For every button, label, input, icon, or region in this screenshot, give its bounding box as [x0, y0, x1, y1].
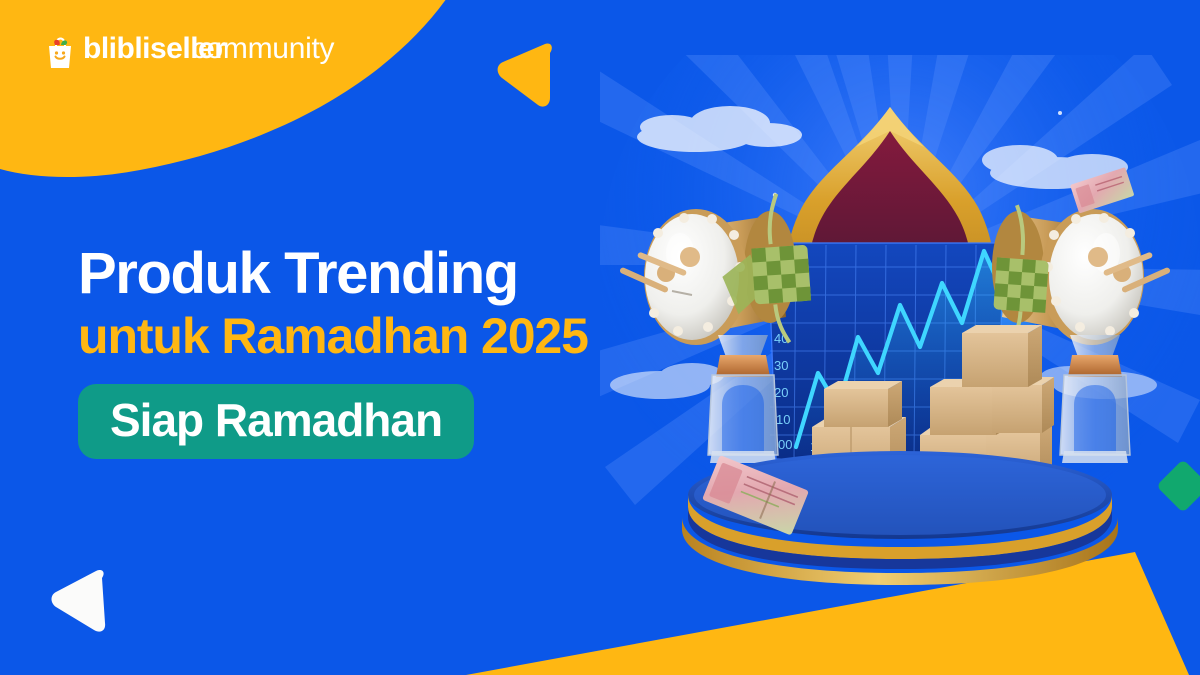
headline-line-2: untuk Ramadhan 2025	[78, 308, 698, 364]
rounded-triangle-white-icon	[48, 570, 110, 634]
shopping-bag-smiley-icon	[46, 37, 74, 69]
brand-logo[interactable]: blibliseller community	[46, 34, 334, 69]
svg-text:30: 30	[774, 358, 788, 373]
svg-text:00: 00	[778, 437, 792, 452]
promo-banner: 40 30 20 10 00 10 20	[0, 0, 1200, 675]
headline-block: Produk Trending untuk Ramadhan 2025 Siap…	[78, 243, 698, 459]
status-badge[interactable]: Siap Ramadhan	[78, 384, 474, 459]
rotated-square-green-icon	[1152, 455, 1200, 511]
svg-text:20: 20	[774, 385, 788, 400]
rounded-triangle-yellow-icon	[493, 43, 555, 109]
svg-text:10: 10	[776, 412, 790, 427]
headline-line-1: Produk Trending	[78, 243, 698, 306]
status-badge-label: Siap Ramadhan	[110, 394, 442, 446]
logo-secondary-text: community	[192, 32, 334, 65]
